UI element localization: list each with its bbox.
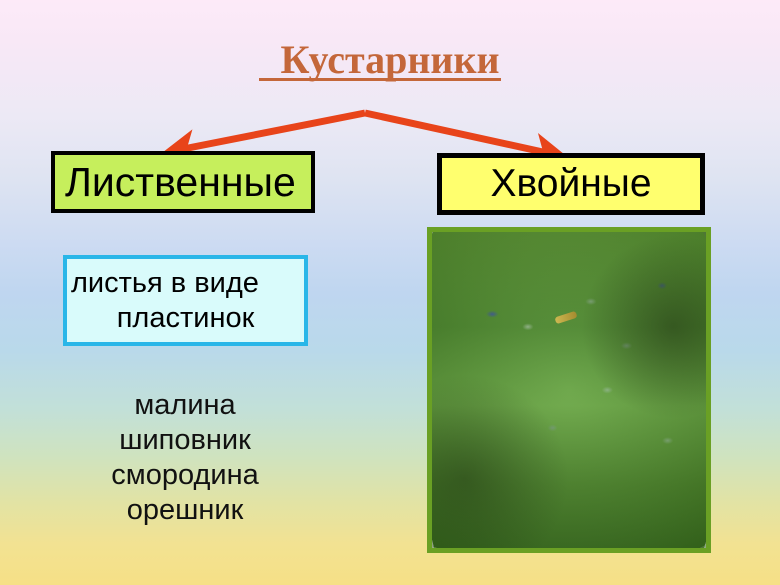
arrow-to-coniferous	[365, 113, 552, 154]
slide-canvas: Кустарники Лиственные Хвойные листья в в…	[0, 0, 780, 585]
category-box-coniferous[interactable]: Хвойные	[437, 153, 705, 215]
list-item: малина	[40, 388, 330, 423]
leaf-description-line1: листья в виде	[69, 266, 302, 301]
arrow-to-deciduous	[178, 113, 365, 150]
category-box-deciduous[interactable]: Лиственные	[51, 151, 315, 213]
leaf-description-line2: пластинок	[117, 301, 255, 336]
category-label-deciduous: Лиственные	[65, 159, 296, 206]
juniper-photo	[427, 227, 711, 553]
leaf-description-box: листья в виде пластинок	[63, 255, 308, 346]
list-item: смородина	[40, 458, 330, 493]
list-item: орешник	[40, 493, 330, 528]
list-item: шиповник	[40, 423, 330, 458]
category-label-coniferous: Хвойные	[490, 162, 651, 206]
plant-list: малина шиповник смородина орешник	[40, 388, 330, 528]
juniper-photo-shading	[432, 232, 706, 548]
